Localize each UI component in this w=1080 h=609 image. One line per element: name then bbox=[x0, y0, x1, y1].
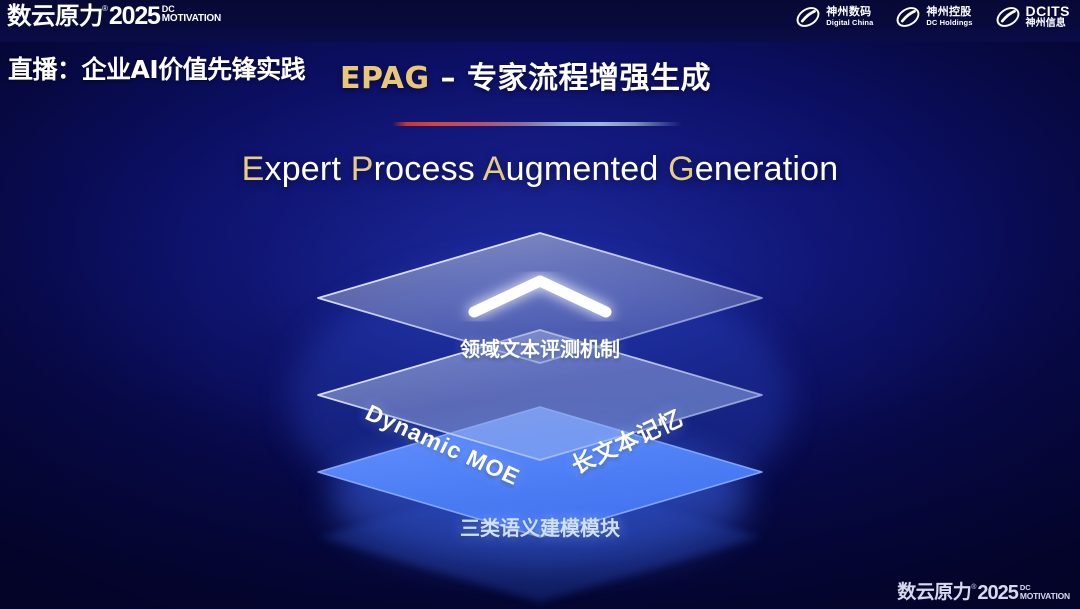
subtitle-word-initial: G bbox=[668, 150, 695, 188]
brand-sub-line2: MOTIVATION bbox=[162, 14, 221, 24]
partner-name-en: DC Holdings bbox=[926, 19, 972, 27]
top-layer-label: 领域文本评测机制 bbox=[0, 333, 1080, 362]
brand-year: 2025 bbox=[109, 4, 160, 29]
subtitle-word-rest: rocess bbox=[374, 150, 475, 188]
subtitle: Expert Process Augmented Generation bbox=[0, 150, 1080, 189]
footer-brand-year: 2025 bbox=[977, 583, 1018, 603]
divider bbox=[392, 122, 682, 126]
page-title-rest: – 专家流程增强生成 bbox=[430, 61, 711, 96]
subtitle-word: Generation bbox=[668, 150, 838, 188]
partner-name-en: Digital China bbox=[826, 19, 873, 27]
partner-logo-dcits: DCITS 神州信息 bbox=[995, 4, 1071, 30]
brand-subtitle: DC MOTIVATION bbox=[162, 5, 221, 24]
footer-brand-name-cn: 数云原力 bbox=[897, 583, 971, 602]
partner-logo-digital-china: 神州数码 Digital China bbox=[795, 4, 873, 30]
subtitle-word-rest: eneration bbox=[695, 150, 839, 188]
partner-text: DCITS 神州信息 bbox=[1026, 4, 1071, 30]
subtitle-word-rest: ugmented bbox=[506, 150, 659, 188]
partner-text: 神州数码 Digital China bbox=[826, 7, 873, 27]
footer-watermark-logo: 数云原力 ® 2025 DC MOTIVATION bbox=[897, 583, 1070, 603]
subtitle-word-initial: A bbox=[483, 150, 506, 188]
partner-logo-dc-holdings: 神州控股 DC Holdings bbox=[895, 4, 972, 30]
subtitle-word-initial: P bbox=[351, 150, 374, 188]
swirl-icon bbox=[795, 4, 821, 30]
subtitle-word: Process bbox=[351, 150, 475, 188]
live-broadcast-label: 直播：企业AI价值先锋实践 bbox=[8, 50, 305, 86]
footer-brand-sub-line2: MOTIVATION bbox=[1020, 592, 1070, 601]
subtitle-word-initial: E bbox=[242, 150, 265, 188]
footer-brand-subtitle: DC MOTIVATION bbox=[1020, 584, 1070, 600]
brand-name-cn: 数云原力 bbox=[7, 4, 103, 28]
slide-canvas: 数云原力 ® 2025 DC MOTIVATION 神州数码 Digital C… bbox=[0, 0, 1080, 609]
swirl-icon bbox=[895, 4, 921, 30]
subtitle-word-rest: xpert bbox=[265, 150, 342, 188]
partner-name-cn: 神州信息 bbox=[1026, 19, 1071, 30]
page-title: EPAG – 专家流程增强生成 bbox=[340, 53, 711, 97]
partner-logo-group: 神州数码 Digital China 神州控股 DC Holdings DCIT… bbox=[795, 4, 1070, 30]
subtitle-word: Expert bbox=[242, 150, 341, 188]
brand-logo: 数云原力 ® 2025 DC MOTIVATION bbox=[8, 4, 221, 29]
footer-registered-mark: ® bbox=[971, 584, 976, 591]
bottom-layer-label: 三类语义建模模块 bbox=[0, 512, 1080, 541]
partner-name-en: DCITS bbox=[1026, 4, 1071, 19]
subtitle-word: Augmented bbox=[483, 150, 659, 188]
swirl-icon bbox=[995, 4, 1021, 30]
page-title-code: EPAG bbox=[340, 61, 430, 96]
partner-text: 神州控股 DC Holdings bbox=[926, 7, 972, 27]
